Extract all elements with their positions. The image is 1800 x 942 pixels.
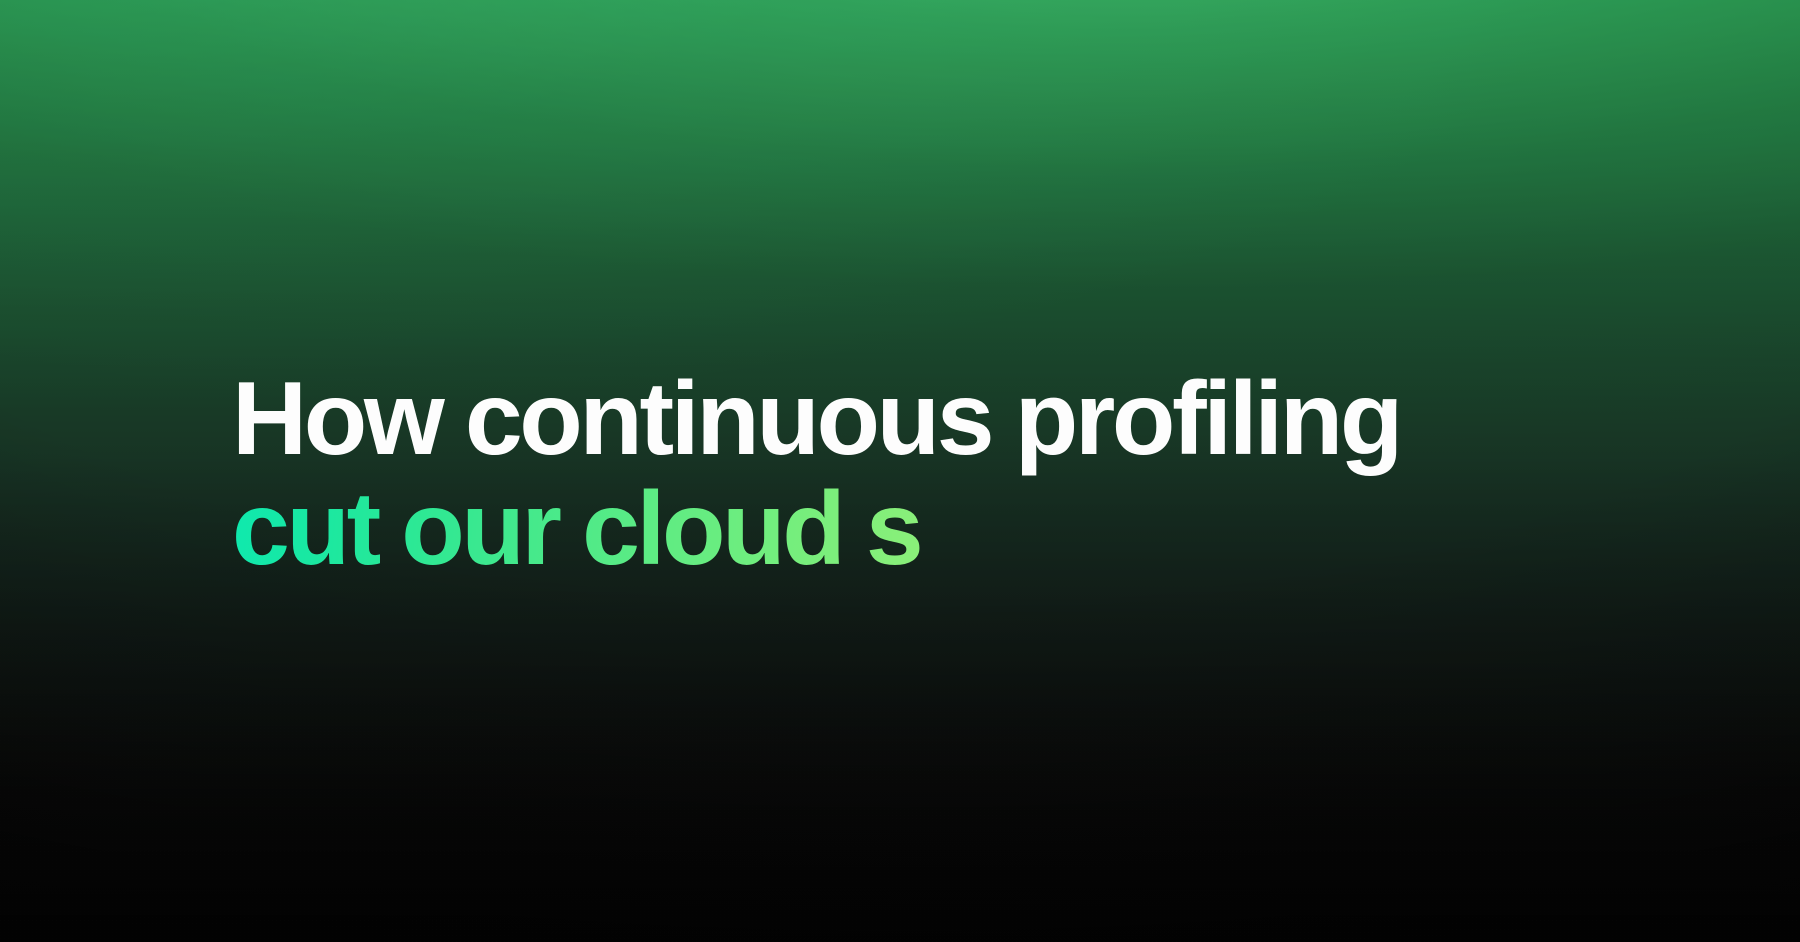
title-card-stage: How continuous profiling cut our cloud s… bbox=[0, 0, 1800, 942]
hero-headline: How continuous profiling cut our cloud s… bbox=[232, 364, 1432, 584]
hero-headline-line-1: How continuous profiling bbox=[232, 364, 1432, 474]
hero-headline-line-2-accent: cut our cloud spend bbox=[232, 474, 1432, 584]
